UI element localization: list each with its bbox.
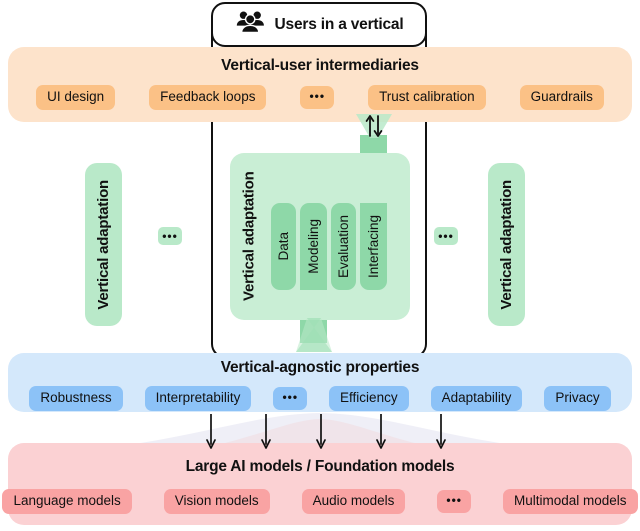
chip-ui-design[interactable]: UI design bbox=[36, 85, 115, 110]
diagram-canvas: Users in a vertical Vertical-user interm… bbox=[0, 0, 640, 531]
users-box-label: Users in a vertical bbox=[275, 16, 404, 34]
vertical-adaptation-label-right: Vertical adaptation bbox=[498, 180, 515, 310]
vertical-adaptation-pill-right[interactable]: Vertical adaptation bbox=[488, 163, 525, 326]
users-in-a-vertical-box: Users in a vertical bbox=[211, 2, 427, 47]
stage-label-interfacing: Interfacing bbox=[366, 215, 381, 278]
more-verticals-left[interactable]: ••• bbox=[158, 227, 182, 245]
chip-row-agnostic: Robustness Interpretability ••• Efficien… bbox=[8, 386, 632, 411]
band-vertical-agnostic-properties: Vertical-agnostic properties Robustness … bbox=[8, 353, 632, 412]
chip-feedback-loops[interactable]: Feedback loops bbox=[149, 85, 266, 110]
vertical-adaptation-label-center: Vertical adaptation bbox=[236, 153, 262, 320]
more-verticals-right[interactable]: ••• bbox=[434, 227, 458, 245]
bidirectional-vertical-arrow-icon bbox=[362, 114, 386, 138]
chip-privacy[interactable]: Privacy bbox=[544, 386, 610, 411]
band-large-ai-models: Large AI models / Foundation models Lang… bbox=[8, 443, 632, 525]
stage-pill-data[interactable]: Data bbox=[271, 203, 296, 290]
chip-more-models[interactable]: ••• bbox=[437, 490, 471, 513]
stage-label-evaluation: Evaluation bbox=[336, 215, 351, 278]
chip-multimodal-models[interactable]: Multimodal models bbox=[503, 489, 638, 514]
modeling-bowtie-connector bbox=[294, 318, 334, 354]
chip-efficiency[interactable]: Efficiency bbox=[329, 386, 409, 411]
chip-row-intermediaries: UI design Feedback loops ••• Trust calib… bbox=[8, 85, 632, 110]
users-group-icon bbox=[235, 10, 265, 39]
chip-vision-models[interactable]: Vision models bbox=[164, 489, 270, 514]
arrow-down-icon-3 bbox=[315, 414, 327, 450]
band-title-intermediaries: Vertical-user intermediaries bbox=[8, 57, 632, 75]
stage-label-modeling: Modeling bbox=[306, 219, 321, 274]
stage-pill-evaluation[interactable]: Evaluation bbox=[331, 203, 356, 290]
vertical-adaptation-label-left: Vertical adaptation bbox=[95, 180, 112, 310]
chip-adaptability[interactable]: Adaptability bbox=[431, 386, 523, 411]
chip-language-models[interactable]: Language models bbox=[2, 489, 131, 514]
band-title-agnostic: Vertical-agnostic properties bbox=[8, 359, 632, 377]
vertical-adaptation-pill-left[interactable]: Vertical adaptation bbox=[85, 163, 122, 326]
chip-more-properties[interactable]: ••• bbox=[273, 387, 307, 410]
stage-pill-interfacing[interactable]: Interfacing bbox=[360, 203, 387, 290]
stage-pill-modeling[interactable]: Modeling bbox=[300, 203, 327, 290]
chip-row-models: Language models Vision models Audio mode… bbox=[8, 489, 632, 514]
chip-guardrails[interactable]: Guardrails bbox=[520, 85, 604, 110]
band-title-foundation-models: Large AI models / Foundation models bbox=[8, 458, 632, 476]
chip-interpretability[interactable]: Interpretability bbox=[145, 386, 252, 411]
chip-audio-models[interactable]: Audio models bbox=[302, 489, 406, 514]
chip-robustness[interactable]: Robustness bbox=[29, 386, 122, 411]
stage-label-data: Data bbox=[276, 232, 291, 261]
chip-more-intermediaries[interactable]: ••• bbox=[300, 86, 334, 109]
arrow-down-icon-1 bbox=[205, 414, 217, 450]
arrow-down-icon-4 bbox=[375, 414, 387, 450]
chip-trust-calibration[interactable]: Trust calibration bbox=[368, 85, 486, 110]
arrow-down-icon-2 bbox=[260, 414, 272, 450]
arrow-down-icon-5 bbox=[435, 414, 447, 450]
band-vertical-user-intermediaries: Vertical-user intermediaries UI design F… bbox=[8, 47, 632, 122]
